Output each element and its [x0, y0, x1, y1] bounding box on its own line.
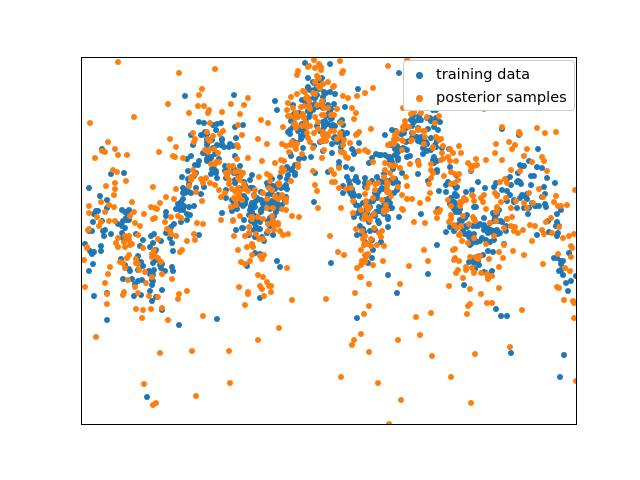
scatter-point	[108, 231, 114, 237]
scatter-point	[218, 217, 224, 223]
scatter-point	[270, 205, 276, 211]
scatter-point	[106, 218, 112, 224]
scatter-point	[205, 110, 211, 116]
scatter-point	[497, 179, 503, 185]
scatter-point	[450, 247, 456, 253]
scatter-point	[460, 275, 466, 281]
scatter-point	[169, 276, 175, 282]
legend-marker-training-data	[416, 72, 423, 79]
scatter-point	[173, 144, 179, 150]
scatter-point	[347, 140, 353, 146]
scatter-point	[569, 245, 575, 251]
scatter-point	[236, 284, 242, 290]
scatter-point	[214, 316, 220, 322]
scatter-point	[337, 58, 343, 64]
scatter-point	[201, 103, 207, 109]
scatter-point	[549, 230, 555, 236]
scatter-point	[374, 242, 380, 248]
scatter-point	[571, 300, 577, 306]
scatter-point	[394, 290, 400, 296]
scatter-point	[131, 114, 137, 120]
scatter-point	[200, 221, 206, 227]
scatter-point	[434, 215, 440, 221]
scatter-point	[478, 291, 484, 297]
scatter-point	[447, 158, 453, 164]
scatter-point	[544, 168, 550, 174]
scatter-point	[443, 229, 449, 235]
scatter-point	[404, 183, 410, 189]
scatter-point	[366, 281, 372, 287]
scatter-point	[430, 144, 436, 150]
scatter-point	[90, 261, 96, 267]
scatter-point	[446, 283, 452, 289]
scatter-point	[475, 179, 481, 185]
scatter-point	[341, 252, 347, 258]
scatter-point	[542, 130, 548, 136]
scatter-point	[509, 214, 515, 220]
scatter-point	[305, 64, 311, 70]
scatter-point	[436, 188, 442, 194]
scatter-point	[561, 352, 567, 358]
scatter-point	[417, 332, 423, 338]
scatter-point	[507, 344, 513, 350]
scatter-point	[200, 313, 206, 319]
scatter-point	[176, 70, 182, 76]
legend-entry-training-data[interactable]: training data	[404, 63, 574, 87]
scatter-point	[255, 136, 261, 142]
scatter-point	[312, 114, 318, 120]
scatter-point	[481, 224, 487, 230]
scatter-point	[268, 289, 274, 295]
scatter-point	[289, 213, 295, 219]
scatter-point	[259, 158, 265, 164]
scatter-point	[172, 154, 178, 160]
scatter-point	[272, 193, 278, 199]
scatter-point	[235, 122, 241, 128]
scatter-point	[364, 185, 370, 191]
scatter-point	[534, 125, 540, 131]
scatter-point	[286, 149, 292, 155]
scatter-point	[184, 217, 190, 223]
scatter-point	[219, 210, 225, 216]
scatter-point	[159, 287, 165, 293]
scatter-point	[210, 133, 216, 139]
scatter-point	[481, 215, 487, 221]
scatter-point	[492, 190, 498, 196]
scatter-point	[192, 171, 198, 177]
scatter-point	[93, 334, 99, 340]
scatter-point	[137, 223, 143, 229]
scatter-point	[483, 206, 489, 212]
scatter-point	[315, 205, 321, 211]
scatter-point	[256, 174, 262, 180]
scatter-point	[157, 200, 163, 206]
scatter-point	[180, 155, 186, 161]
scatter-point	[426, 181, 432, 187]
scatter-point	[280, 232, 286, 238]
scatter-point	[151, 247, 157, 253]
scatter-point	[367, 217, 373, 223]
scatter-point	[202, 147, 208, 153]
scatter-point	[564, 202, 570, 208]
scatter-point	[544, 175, 550, 181]
scatter-point	[123, 178, 129, 184]
scatter-point	[415, 159, 421, 165]
scatter-point	[155, 294, 161, 300]
scatter-point	[370, 159, 376, 165]
scatter-point	[240, 122, 246, 128]
scatter-point	[485, 276, 491, 282]
scatter-point	[175, 296, 181, 302]
scatter-point	[111, 192, 117, 198]
scatter-point	[528, 182, 534, 188]
scatter-point	[319, 98, 325, 104]
scatter-point	[437, 119, 443, 125]
scatter-point	[304, 94, 310, 100]
scatter-point	[233, 135, 239, 141]
scatter-point	[385, 272, 391, 278]
scatter-point	[176, 291, 182, 297]
scatter-point	[434, 242, 440, 248]
scatter-point	[381, 243, 387, 249]
scatter-point	[385, 63, 391, 69]
scatter-point	[120, 260, 126, 266]
scatter-point	[568, 254, 574, 260]
scatter-point	[296, 214, 302, 220]
scatter-point	[508, 167, 514, 173]
scatter-point	[555, 230, 561, 236]
scatter-point	[150, 184, 156, 190]
scatter-point	[430, 170, 436, 176]
scatter-point	[81, 257, 87, 263]
scatter-point	[392, 162, 398, 168]
scatter-point	[306, 103, 312, 109]
scatter-point	[464, 311, 470, 317]
scatter-point	[540, 261, 546, 267]
scatter-point	[245, 95, 251, 101]
scatter-point	[526, 190, 532, 196]
scatter-point	[325, 105, 331, 111]
scatter-point	[440, 143, 446, 149]
scatter-point	[283, 185, 289, 191]
scatter-point	[169, 240, 175, 246]
scatter-point	[568, 278, 574, 284]
scatter-point	[319, 112, 325, 118]
scatter-point	[252, 187, 258, 193]
scatter-point	[288, 94, 294, 100]
scatter-point	[310, 145, 316, 151]
scatter-point	[400, 138, 406, 144]
scatter-point	[260, 190, 266, 196]
scatter-point	[573, 378, 577, 384]
scatter-point	[483, 157, 489, 163]
scatter-point	[212, 66, 218, 72]
scatter-point	[112, 218, 118, 224]
scatter-point	[539, 154, 545, 160]
scatter-point	[408, 117, 414, 123]
scatter-point	[513, 198, 519, 204]
scatter-point	[371, 211, 377, 217]
scatter-point	[508, 350, 514, 356]
scatter-point	[355, 86, 361, 92]
scatter-point	[227, 141, 233, 147]
scatter-point	[354, 265, 360, 271]
scatter-point	[276, 325, 282, 331]
scatter-point	[399, 206, 405, 212]
scatter-point	[366, 303, 372, 309]
scatter-point	[228, 204, 234, 210]
scatter-point	[543, 204, 549, 210]
scatter-point	[312, 182, 318, 188]
scatter-point	[194, 220, 200, 226]
scatter-point	[92, 155, 98, 161]
scatter-point	[354, 315, 360, 321]
scatter-point	[520, 227, 526, 233]
scatter-point	[439, 150, 445, 156]
scatter-point	[483, 241, 489, 247]
scatter-point	[82, 284, 88, 290]
scatter-point	[136, 267, 142, 273]
scatter-point	[231, 92, 237, 98]
scatter-point	[284, 265, 290, 271]
scatter-point	[342, 104, 348, 110]
scatter-point	[226, 348, 232, 354]
scatter-point	[173, 186, 179, 192]
scatter-point	[235, 144, 241, 150]
scatter-point	[292, 172, 298, 178]
scatter-point	[228, 101, 234, 107]
scatter-point	[314, 188, 320, 194]
scatter-point	[501, 225, 507, 231]
scatter-point	[493, 218, 499, 224]
scatter-point	[126, 252, 132, 258]
scatter-point	[231, 233, 237, 239]
scatter-point	[247, 177, 253, 183]
scatter-point	[448, 374, 454, 380]
scatter-point	[112, 186, 118, 192]
scatter-point	[560, 235, 566, 241]
scatter-point	[370, 262, 376, 268]
scatter-point	[103, 183, 109, 189]
scatter-point	[515, 230, 521, 236]
scatter-point	[96, 223, 102, 229]
scatter-point	[245, 188, 251, 194]
scatter-point	[531, 173, 537, 179]
scatter-point	[192, 237, 198, 243]
scatter-point	[328, 167, 334, 173]
scatter-point	[312, 91, 318, 97]
scatter-point	[551, 199, 557, 205]
scatter-point	[530, 200, 536, 206]
scatter-point	[566, 233, 572, 239]
scatter-point	[287, 131, 293, 137]
scatter-point	[242, 233, 248, 239]
scatter-point	[517, 168, 523, 174]
scatter-point	[504, 216, 510, 222]
scatter-point	[436, 113, 442, 119]
scatter-point	[440, 156, 446, 162]
scatter-point	[250, 244, 256, 250]
scatter-point	[341, 137, 347, 143]
scatter-point	[425, 271, 431, 277]
scatter-point	[458, 150, 464, 156]
scatter-point	[142, 269, 148, 275]
scatter-point	[186, 183, 192, 189]
scatter-point	[219, 109, 225, 115]
scatter-point	[492, 150, 498, 156]
scatter-point	[199, 198, 205, 204]
scatter-point	[536, 186, 542, 192]
scatter-point	[565, 288, 571, 294]
scatter-point	[338, 374, 344, 380]
scatter-point	[534, 232, 540, 238]
scatter-point	[548, 215, 554, 221]
scatter-point	[521, 252, 527, 258]
scatter-point	[272, 98, 278, 104]
scatter-point	[327, 233, 333, 239]
scatter-point	[253, 231, 259, 237]
scatter-point	[486, 256, 492, 262]
scatter-point	[362, 147, 368, 153]
scatter-point	[86, 185, 92, 191]
scatter-point	[157, 350, 163, 356]
legend-label-training-data: training data	[436, 65, 530, 85]
scatter-point	[175, 213, 181, 219]
scatter-point	[499, 157, 505, 163]
scatter-point	[554, 284, 560, 290]
scatter-point	[432, 120, 438, 126]
scatter-point	[330, 84, 336, 90]
scatter-point	[352, 290, 358, 296]
scatter-point	[375, 380, 381, 386]
scatter-point	[217, 131, 223, 137]
scatter-point	[386, 421, 392, 425]
scatter-point	[362, 252, 368, 258]
scatter-point	[101, 233, 107, 239]
scatter-point	[265, 221, 271, 227]
scatter-point	[270, 232, 276, 238]
scatter-point	[131, 209, 137, 215]
scatter-point	[201, 120, 207, 126]
scatter-point	[497, 230, 503, 236]
scatter-point	[502, 176, 508, 182]
scatter-point	[473, 156, 479, 162]
scatter-point	[453, 158, 459, 164]
scatter-point	[87, 120, 93, 126]
scatter-point	[159, 271, 165, 277]
scatter-point	[385, 224, 391, 230]
scatter-point	[295, 161, 301, 167]
scatter-point	[398, 397, 404, 403]
scatter-point	[358, 274, 364, 280]
scatter-point	[141, 211, 147, 217]
scatter-point	[246, 224, 252, 230]
scatter-point	[467, 301, 473, 307]
scatter-point	[385, 216, 391, 222]
legend-marker-posterior-samples	[416, 95, 423, 102]
scatter-point	[485, 248, 491, 254]
scatter-point	[196, 92, 202, 98]
scatter-point	[135, 278, 141, 284]
scatter-point	[484, 300, 490, 306]
scatter-point	[362, 90, 368, 96]
scatter-point	[349, 105, 355, 111]
scatter-point	[308, 154, 314, 160]
scatter-point	[387, 170, 393, 176]
scatter-point	[141, 381, 147, 387]
scatter-point	[562, 265, 568, 271]
scatter-point	[417, 200, 423, 206]
scatter-point	[396, 214, 402, 220]
scatter-point	[264, 141, 270, 147]
scatter-point	[499, 187, 505, 193]
scatter-point	[366, 349, 372, 355]
scatter-point	[279, 141, 285, 147]
scatter-point	[418, 117, 424, 123]
scatter-point	[395, 337, 401, 343]
scatter-point	[540, 194, 546, 200]
scatter-point	[425, 258, 431, 264]
scatter-point	[288, 167, 294, 173]
scatter-point	[146, 293, 152, 299]
scatter-point	[553, 193, 559, 199]
scatter-point	[407, 153, 413, 159]
scatter-point	[427, 190, 433, 196]
scatter-point	[382, 167, 388, 173]
scatter-point	[170, 248, 176, 254]
scatter-point	[415, 171, 421, 177]
legend-entry-posterior-samples[interactable]: posterior samples	[404, 86, 574, 110]
scatter-point	[340, 68, 346, 74]
scatter-point	[556, 224, 562, 230]
legend-box[interactable]: training data posterior samples	[403, 60, 575, 111]
scatter-point	[498, 313, 504, 319]
scatter-point	[240, 170, 246, 176]
scatter-point	[496, 285, 502, 291]
scatter-point	[170, 268, 176, 274]
scatter-point	[519, 307, 525, 313]
scatter-point	[285, 231, 291, 237]
scatter-point	[102, 280, 108, 286]
scatter-point	[265, 120, 271, 126]
scatter-point	[525, 211, 531, 217]
scatter-point	[481, 192, 487, 198]
scatter-point	[482, 185, 488, 191]
scatter-point	[524, 146, 530, 152]
scatter-point	[332, 91, 338, 97]
scatter-point	[229, 186, 235, 192]
scatter-point	[278, 157, 284, 163]
scatter-point	[375, 218, 381, 224]
scatter-point	[487, 220, 493, 226]
scatter-point	[191, 203, 197, 209]
scatter-point	[227, 380, 233, 386]
scatter-point	[353, 110, 359, 116]
scatter-point	[105, 139, 111, 145]
scatter-point	[91, 293, 97, 299]
scatter-point	[358, 331, 364, 337]
scatter-point	[121, 289, 127, 295]
scatter-point	[407, 161, 413, 167]
scatter-point	[289, 297, 295, 303]
scatter-point	[224, 173, 230, 179]
scatter-point	[384, 183, 390, 189]
scatter-point	[241, 102, 247, 108]
scatter-point	[115, 59, 121, 65]
scatter-point	[394, 129, 400, 135]
scatter-point	[561, 297, 567, 303]
scatter-point	[557, 374, 563, 380]
